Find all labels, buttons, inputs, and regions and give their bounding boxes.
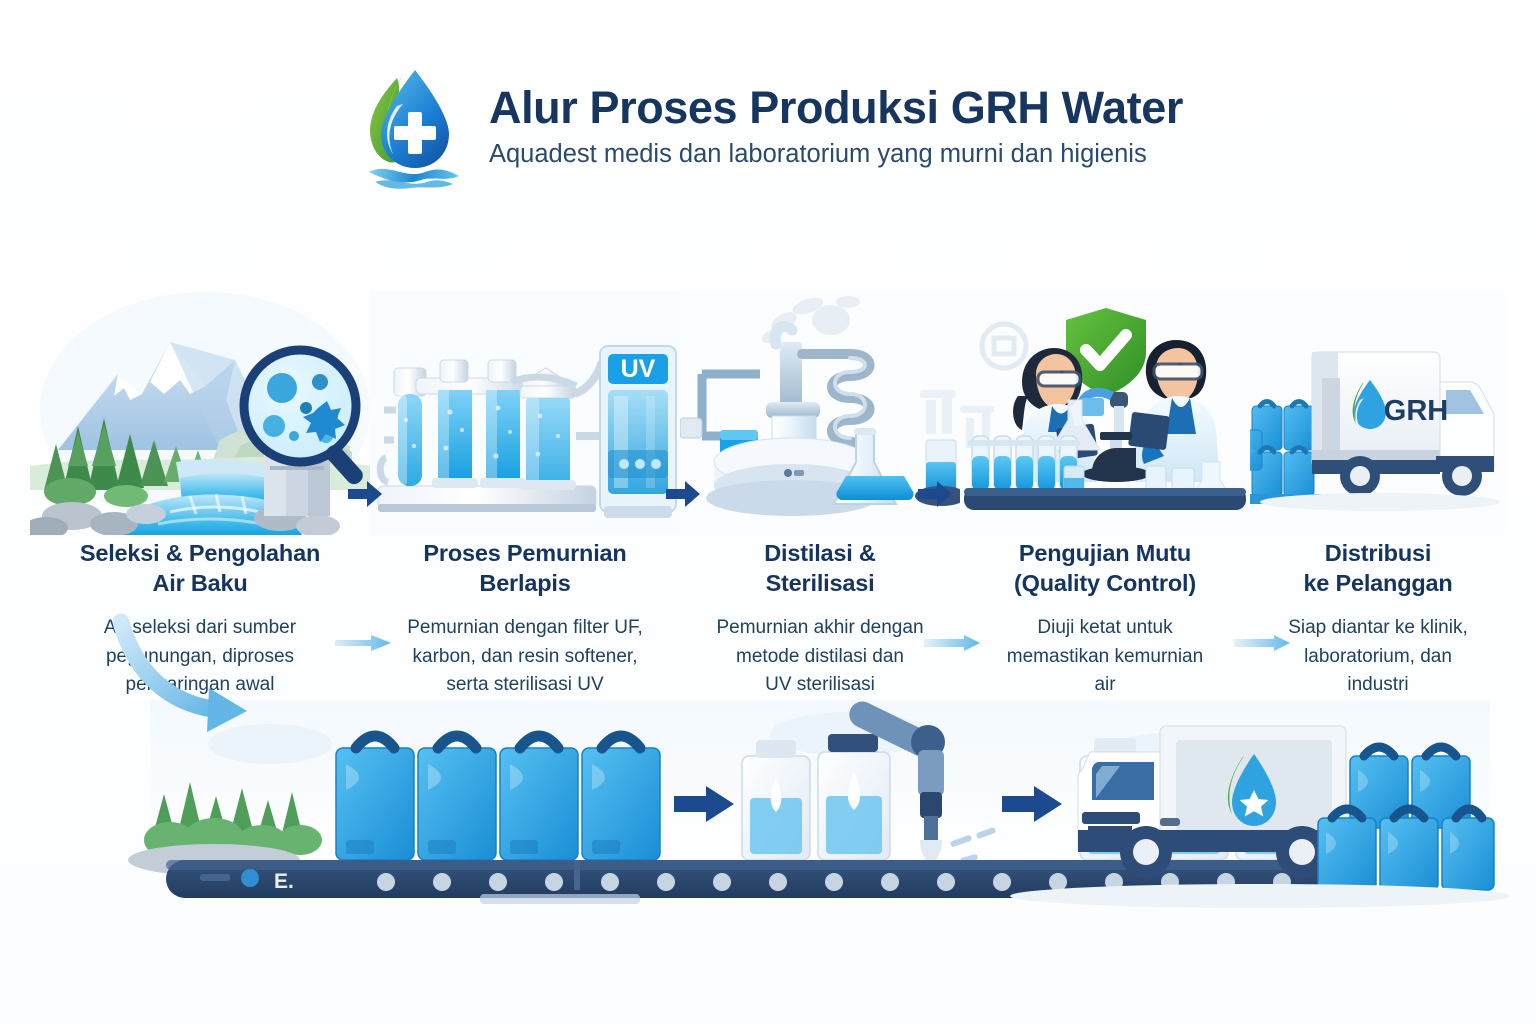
quality-control-lab-scene (960, 290, 1250, 535)
flow-arrow-light-1 (335, 635, 391, 651)
delivery-truck-scene: GRH (1250, 290, 1506, 535)
production-line-band: E. (150, 700, 1490, 930)
blue-jerrycan-stacks (1250, 402, 1322, 505)
step-5-description: Siap diantar ke klinik, laboratorium, da… (1250, 614, 1506, 700)
flow-arrow-light-4 (1234, 635, 1290, 651)
test-tube-rack (968, 436, 1080, 490)
flow-arrow-navy-2 (666, 480, 700, 508)
multi-stage-filter-uv-scene: UV (370, 290, 680, 535)
flow-arrow-navy-3 (918, 480, 952, 508)
step-2: UV Proses Pemurnian Berlapis Pemurnian d… (370, 290, 680, 730)
page-title: Alur Proses Produksi GRH Water (489, 83, 1183, 133)
step-1-title: Seleksi & Pengolahan Air Baku (30, 539, 370, 598)
infographic-canvas: Alur Proses Produksi GRH Water Aquadest … (0, 0, 1536, 1024)
step-4: Pengujian Mutu (Quality Control) Diuji k… (960, 290, 1250, 730)
truck-grh-label: GRH (1384, 395, 1448, 427)
page-subtitle: Aquadest medis dan laboratorium yang mur… (489, 140, 1183, 169)
conveyor-marking: E. (274, 870, 294, 893)
step-3: Distilasi & Sterilisasi Pemurnian akhir … (680, 290, 960, 730)
header: Alur Proses Produksi GRH Water Aquadest … (0, 62, 1536, 190)
uv-sterilizer-cabinet: UV (600, 346, 676, 518)
flow-arrow-curved-down (85, 610, 305, 750)
uv-label: UV (621, 355, 656, 383)
step-5: GRH Distribusi ke Pelanggan Siap diantar… (1250, 290, 1506, 730)
step-4-title: Pengujian Mutu (Quality Control) (960, 539, 1250, 598)
flow-arrow-light-3 (924, 635, 980, 651)
title-block: Alur Proses Produksi GRH Water Aquadest … (489, 83, 1183, 170)
step-2-title: Proses Pemurnian Berlapis (370, 539, 680, 598)
flow-arrow-navy-1 (348, 480, 382, 508)
step-4-description: Diuji ketat untuk memastikan kemurnian a… (960, 614, 1250, 700)
step-3-title: Distilasi & Sterilisasi (680, 539, 960, 598)
step-3-description: Pemurnian akhir dengan metode distilasi … (680, 614, 960, 700)
mountain-river-magnifier-scene (30, 290, 370, 535)
step-5-title: Distribusi ke Pelanggan (1250, 539, 1506, 598)
step-2-description: Pemurnian dengan filter UF, karbon, dan … (370, 614, 680, 700)
grh-water-droplet-medical-cross-logo (353, 62, 471, 190)
